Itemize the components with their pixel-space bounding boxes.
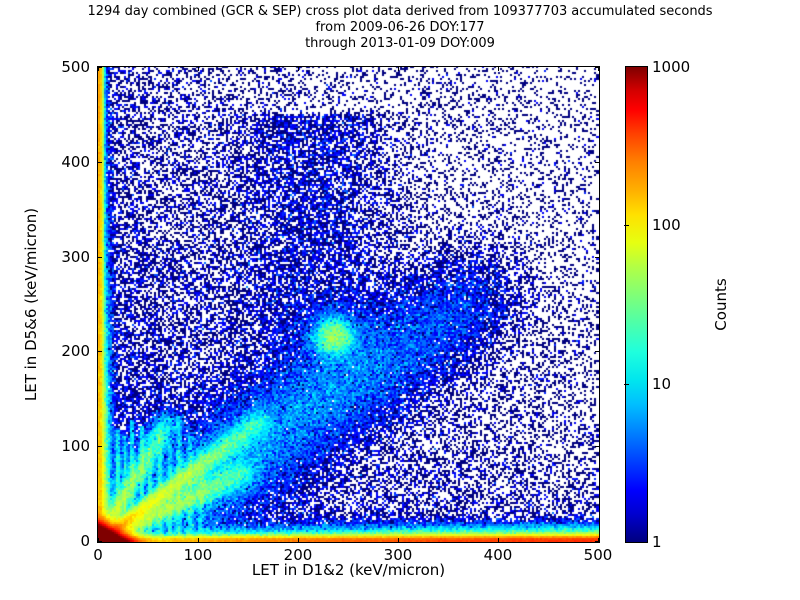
x-tick-top-100 (198, 67, 199, 71)
y-tick-right-400 (595, 162, 599, 163)
colorbar-ticklabel-1000: 1000 (652, 58, 690, 76)
y-tick-right-500 (595, 67, 599, 68)
y-tick-200 (98, 351, 102, 352)
y-axis-label: LET in D5&6 (keV/micron) (22, 208, 40, 401)
colorbar-ticklabel-10: 10 (652, 375, 671, 393)
x-tick-300 (398, 538, 399, 542)
y-tick-right-100 (595, 446, 599, 447)
y-ticklabel-0: 0 (40, 532, 90, 550)
x-tick-top-400 (498, 67, 499, 71)
colorbar[interactable]: 1101001000 (625, 66, 648, 543)
x-tick-100 (198, 538, 199, 542)
y-tick-right-300 (595, 257, 599, 258)
colorbar-ticklabel-100: 100 (652, 216, 681, 234)
x-tick-200 (298, 538, 299, 542)
y-tick-500 (98, 67, 102, 68)
colorbar-gradient (625, 66, 648, 543)
y-tick-400 (98, 162, 102, 163)
x-tick-top-300 (398, 67, 399, 71)
x-axis-label: LET in D1&2 (keV/micron) (97, 561, 600, 579)
y-tick-0 (98, 541, 102, 542)
colorbar-tick-10 (624, 384, 629, 385)
figure-title: 1294 day combined (GCR & SEP) cross plot… (0, 4, 800, 52)
colorbar-label: Counts (712, 278, 730, 330)
title-line-1: 1294 day combined (GCR & SEP) cross plot… (0, 4, 800, 20)
figure-canvas: 1294 day combined (GCR & SEP) cross plot… (0, 0, 800, 600)
y-tick-100 (98, 446, 102, 447)
title-line-3: through 2013-01-09 DOY:009 (0, 36, 800, 52)
plot-area[interactable] (97, 66, 600, 543)
y-tick-right-200 (595, 351, 599, 352)
heatmap-data-layer (98, 67, 599, 542)
y-ticklabel-300: 300 (40, 248, 90, 266)
colorbar-ticklabel-1: 1 (652, 533, 662, 551)
title-line-2: from 2009-06-26 DOY:177 (0, 20, 800, 36)
colorbar-tick-100 (624, 225, 629, 226)
y-tick-300 (98, 257, 102, 258)
y-ticklabel-500: 500 (40, 58, 90, 76)
x-tick-top-200 (298, 67, 299, 71)
y-ticklabel-100: 100 (40, 437, 90, 455)
y-ticklabel-200: 200 (40, 342, 90, 360)
y-tick-right-0 (595, 541, 599, 542)
y-ticklabel-400: 400 (40, 153, 90, 171)
x-tick-400 (498, 538, 499, 542)
